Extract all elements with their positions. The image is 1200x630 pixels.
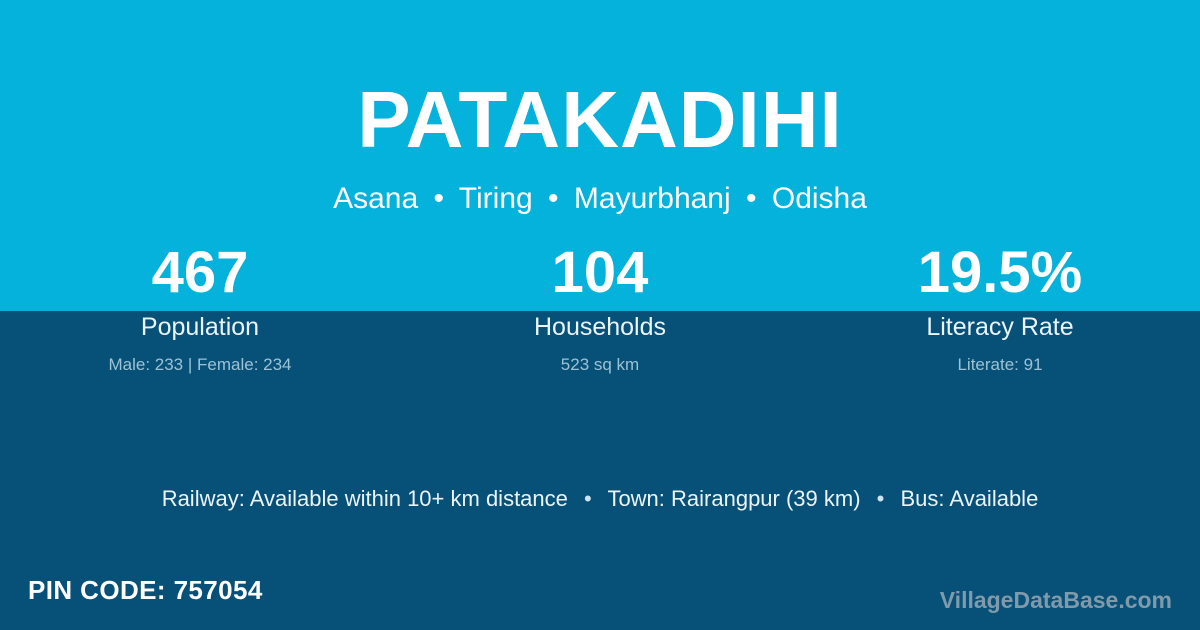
info-item-bus: Bus: Available [901,486,1039,511]
page-title: PATAKADIHI [0,80,1200,160]
info-item-railway: Railway: Available within 10+ km distanc… [162,486,568,511]
breadcrumb-part-0: Asana [333,182,418,215]
stat-population: 467 Population Male: 233 | Female: 234 [0,243,400,374]
stat-detail-literacy-rate: Literate: 91 [800,356,1200,375]
info-separator: • [574,486,602,511]
stat-detail-population: Male: 233 | Female: 234 [0,356,400,375]
breadcrumb-separator: • [426,182,451,215]
stat-literacy-rate: 19.5% Literacy Rate Literate: 91 [800,243,1200,374]
breadcrumb-part-3: Odisha [772,182,867,215]
breadcrumb-part-2: Mayurbhanj [574,182,731,215]
stats-row: 467 Population Male: 233 | Female: 234 1… [0,243,1200,374]
breadcrumb-separator: • [739,182,764,215]
info-item-town: Town: Rairangpur (39 km) [607,486,860,511]
breadcrumb: Asana • Tiring • Mayurbhanj • Odisha [0,182,1200,215]
stat-value-literacy-rate: 19.5% [800,243,1200,311]
breadcrumb-part-1: Tiring [459,182,533,215]
stat-households: 104 Households 523 sq km [400,243,800,374]
pin-code: PIN CODE: 757054 [28,576,263,605]
amenities-info-line: Railway: Available within 10+ km distanc… [0,486,1200,512]
stat-label-literacy-rate: Literacy Rate [800,314,1200,342]
stat-detail-households: 523 sq km [400,356,800,375]
info-separator: • [867,486,895,511]
stat-label-households: Households [400,314,800,342]
breadcrumb-separator: • [541,182,566,215]
stat-value-households: 104 [400,243,800,311]
stat-label-population: Population [0,314,400,342]
site-brand: VillageDataBase.com [940,588,1172,613]
stat-value-population: 467 [0,243,400,311]
